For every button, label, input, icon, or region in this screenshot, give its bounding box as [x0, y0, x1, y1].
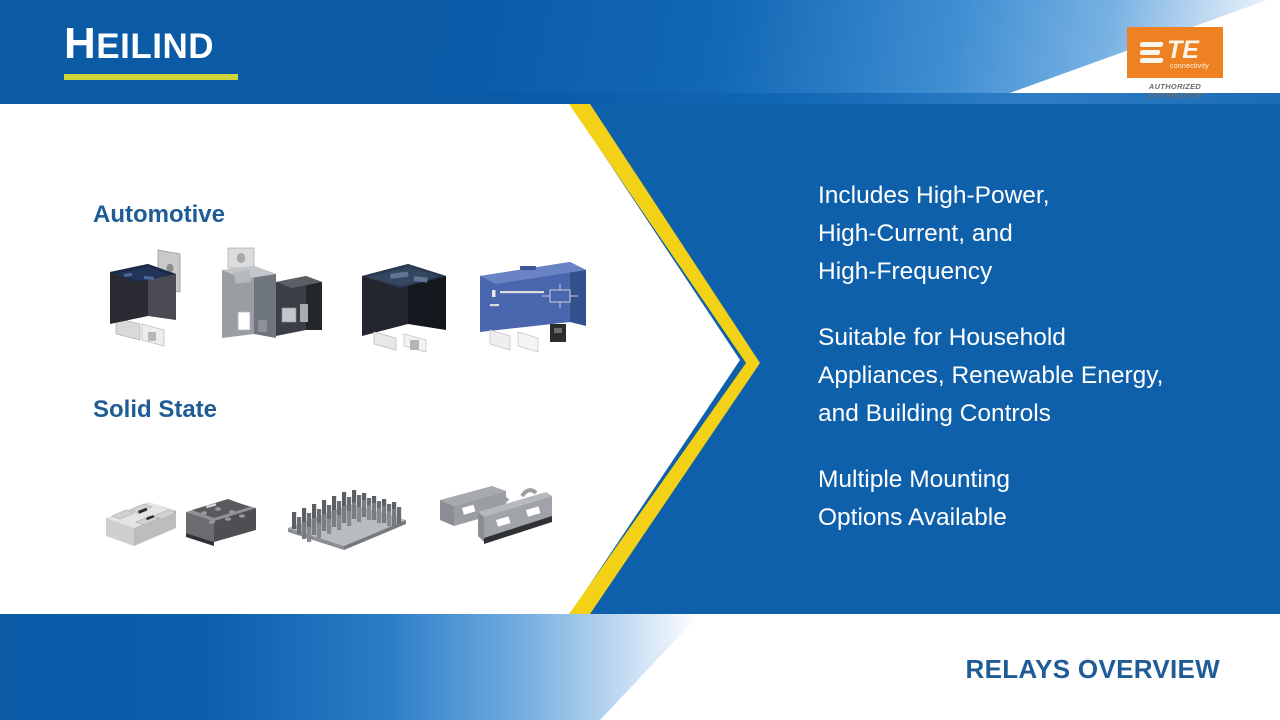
te-logo-box: TE connectivity: [1127, 27, 1223, 78]
product-grey-automotive-relay-pair: [214, 246, 324, 352]
feature-bullet-3: Multiple Mounting Options Available: [818, 461, 1238, 537]
slide: HEILIND TE connectivity AUTHORIZED DISTR…: [0, 0, 1280, 720]
slide-footer: RELAYS OVERVIEW: [0, 614, 1280, 720]
te-bars-icon: [1140, 42, 1163, 64]
feature-bullet-2: Suitable for Household Appliances, Renew…: [818, 319, 1238, 433]
header-bottom-rule: [0, 93, 1280, 104]
product-white-solid-state-relay-module: [102, 490, 180, 552]
te-bar-1: [1139, 42, 1163, 47]
heilind-initial: H: [64, 19, 96, 68]
slide-header: HEILIND: [0, 0, 1280, 104]
feature-bullet-1: Includes High-Power, High-Current, and H…: [818, 177, 1238, 291]
te-connectivity-logo: TE connectivity AUTHORIZED DISTRIBUTOR: [1127, 27, 1223, 100]
category-heading-automotive: Automotive: [93, 201, 225, 229]
yellow-chevron-accent: [560, 104, 760, 614]
heilind-underline: [64, 74, 238, 80]
heilind-remainder: EILIND: [96, 27, 214, 66]
product-metal-mounting-clip-bracket: [434, 482, 556, 552]
te-bar-2: [1139, 50, 1160, 55]
slide-footer-title: RELAYS OVERVIEW: [966, 654, 1220, 685]
heilind-logo: HEILIND: [64, 22, 238, 80]
header-white-wedge: [960, 0, 1280, 104]
heilind-wordmark: HEILIND: [64, 22, 238, 69]
product-black-micro-iso-relay-with-bracket: [104, 248, 200, 352]
te-bar-3: [1139, 58, 1163, 63]
product-pin-fin-heatsink: [280, 478, 410, 552]
product-row-automotive: [96, 242, 566, 352]
product-dark-blue-high-current-relay: [354, 252, 458, 352]
authorized-distributor-caption: AUTHORIZED DISTRIBUTOR: [1127, 82, 1223, 100]
te-tagline: connectivity: [1170, 63, 1209, 71]
product-row-solid-state: [96, 442, 566, 552]
slide-body: Automotive: [0, 104, 1280, 614]
feature-bullets: Includes High-Power, High-Current, and H…: [818, 177, 1238, 537]
product-blue-automotive-relay-with-schematic: [474, 250, 592, 352]
product-grey-solid-state-relay-block: [182, 490, 260, 552]
category-heading-solid-state: Solid State: [93, 396, 217, 424]
te-mark-text: TE: [1167, 38, 1199, 63]
footer-gradient-shape: [0, 614, 700, 720]
